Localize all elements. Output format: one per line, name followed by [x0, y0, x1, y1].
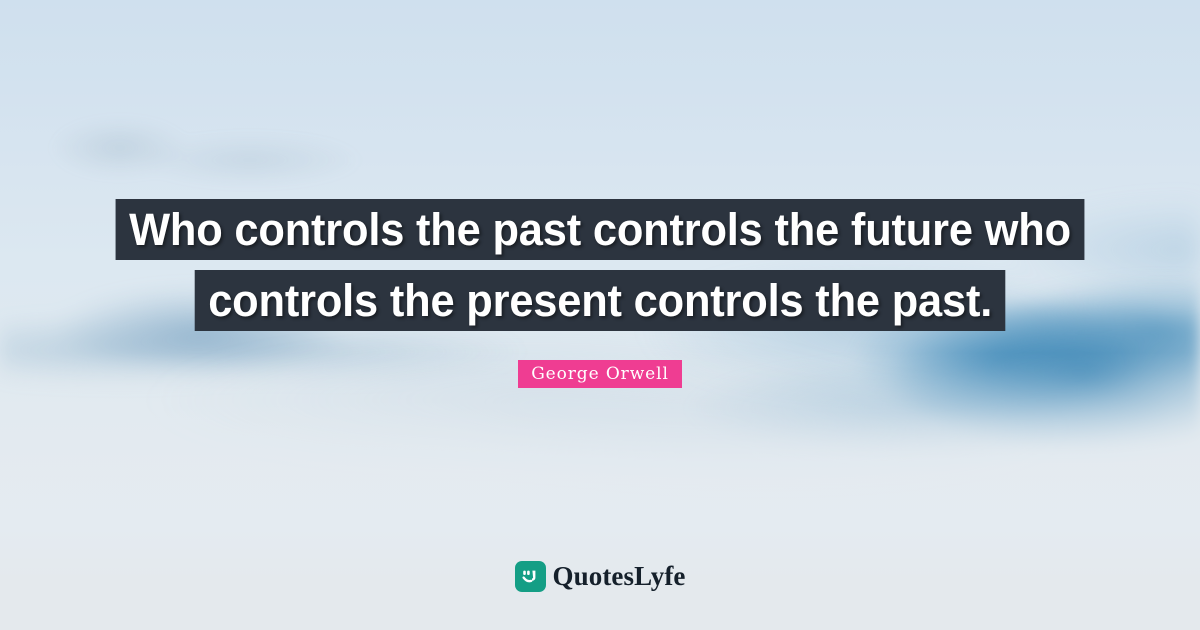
brand-name-text: QuotesLyfe	[553, 561, 686, 592]
quote-line-1-wrapper: Who controls the past controls the futur…	[0, 199, 1200, 260]
author-name-badge[interactable]: George Orwell	[518, 360, 682, 388]
quote-line-2: controls the present controls the past.	[195, 270, 1006, 331]
content-overlay: Who controls the past controls the futur…	[0, 0, 1200, 630]
quote-smiley-icon	[515, 561, 546, 592]
author-badge-row: George Orwell	[0, 360, 1200, 388]
brand-logo[interactable]: QuotesLyfe	[0, 561, 1200, 592]
quote-text-block: Who controls the past controls the futur…	[0, 199, 1200, 331]
quote-line-1: Who controls the past controls the futur…	[116, 199, 1085, 260]
quote-line-2-wrapper: controls the present controls the past.	[0, 270, 1200, 331]
quote-card: Who controls the past controls the futur…	[0, 0, 1200, 630]
